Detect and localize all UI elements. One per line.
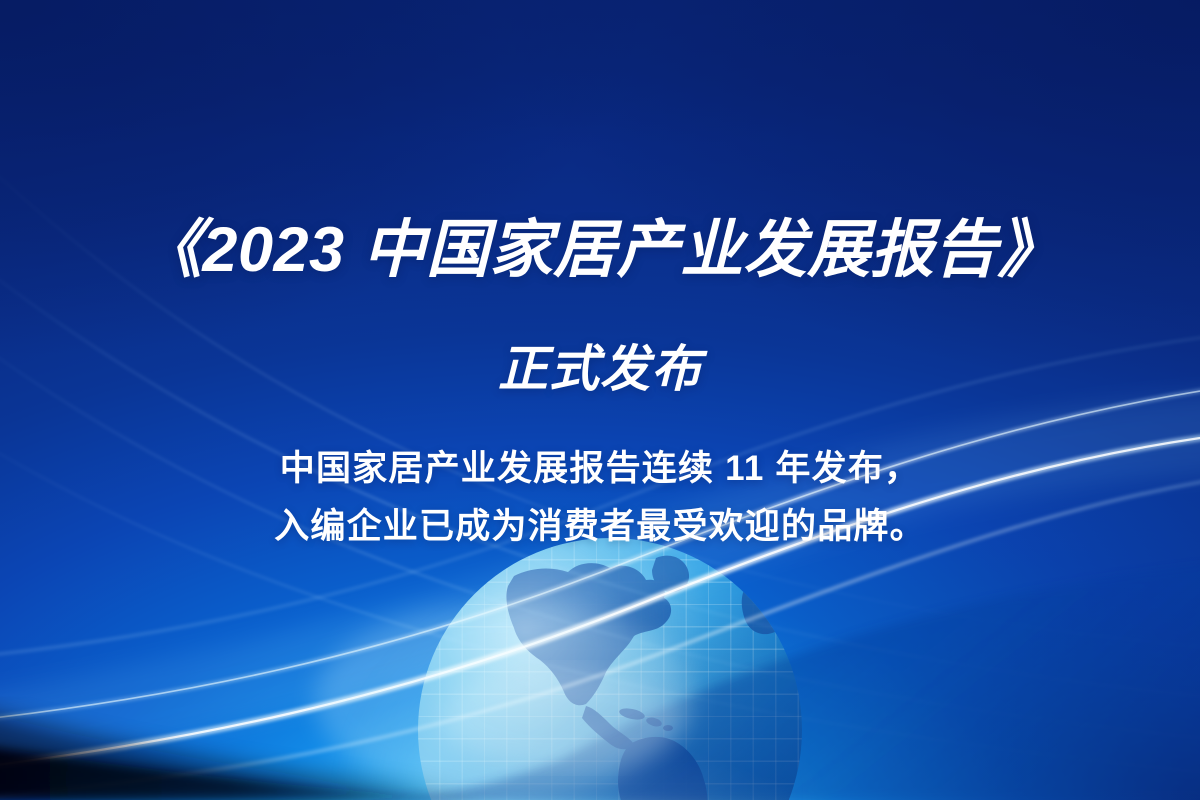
page-title: 《2023 中国家居产业发展报告》	[0, 216, 1200, 284]
description-text: 中国家居产业发展报告连续 11 年发布， 入编企业已成为消费者最受欢迎的品牌。	[0, 440, 1200, 556]
release-status-heading: 正式发布	[0, 342, 1200, 397]
poster-canvas: 《2023 中国家居产业发展报告》 正式发布 中国家居产业发展报告连续 11 年…	[0, 0, 1200, 800]
background-corner-vignette	[0, 0, 1200, 800]
description-line-2: 入编企业已成为消费者最受欢迎的品牌。	[0, 498, 1200, 556]
description-line-1: 中国家居产业发展报告连续 11 年发布，	[0, 440, 1200, 498]
